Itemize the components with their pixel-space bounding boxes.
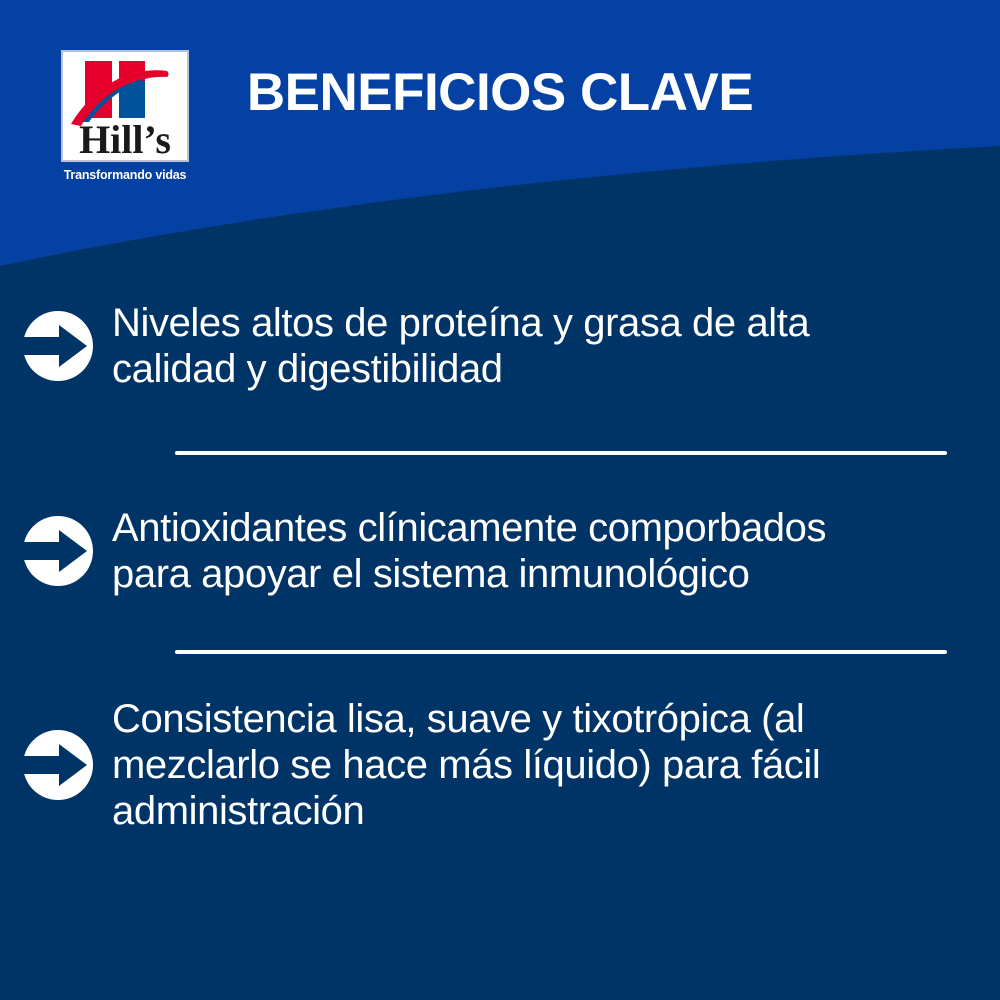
hills-wordmark: Hill’s — [79, 117, 171, 160]
page-title: BENEFICIOS CLAVE — [0, 62, 1000, 123]
benefit-divider — [175, 451, 947, 455]
benefit-text: Niveles altos de proteína y grasa de alt… — [112, 300, 912, 393]
list-item: Antioxidantes clínicamente comporbados p… — [0, 485, 1000, 618]
arrow-right-circle-icon — [0, 728, 112, 802]
benefit-text: Antioxidantes clínicamente comporbados p… — [112, 505, 912, 598]
arrow-right-circle-icon — [0, 309, 112, 383]
benefits-list: Niveles altos de proteína y grasa de alt… — [0, 286, 1000, 853]
benefit-text: Consistencia lisa, suave y tixotrópica (… — [112, 696, 912, 835]
promo-card: Hill’s Transformando vidas BENEFICIOS CL… — [0, 0, 1000, 1000]
arrow-right-circle-icon — [0, 514, 112, 588]
list-item: Niveles altos de proteína y grasa de alt… — [0, 286, 1000, 407]
logo-tagline: Transformando vidas — [52, 168, 198, 182]
list-item: Consistencia lisa, suave y tixotrópica (… — [0, 676, 1000, 853]
benefit-divider — [175, 650, 947, 654]
